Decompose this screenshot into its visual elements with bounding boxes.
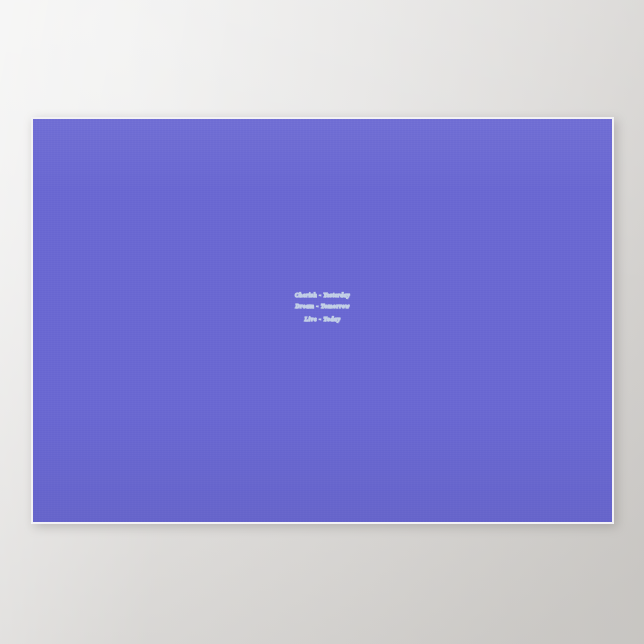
quote-line-2: Dream - Tomorrow [33, 305, 612, 311]
poster-paper: Cherish - Yesterday Dream - Tomorrow Liv… [31, 117, 614, 524]
quote-line-3: Live - Today [33, 317, 612, 323]
poster-scene: Cherish - Yesterday Dream - Tomorrow Liv… [0, 0, 644, 644]
poster-printed-face: Cherish - Yesterday Dream - Tomorrow Liv… [33, 119, 612, 522]
poster[interactable]: Cherish - Yesterday Dream - Tomorrow Liv… [31, 117, 614, 524]
quote-block: Cherish - Yesterday Dream - Tomorrow Liv… [33, 294, 612, 324]
quote-line-1: Cherish - Yesterday [33, 294, 612, 300]
